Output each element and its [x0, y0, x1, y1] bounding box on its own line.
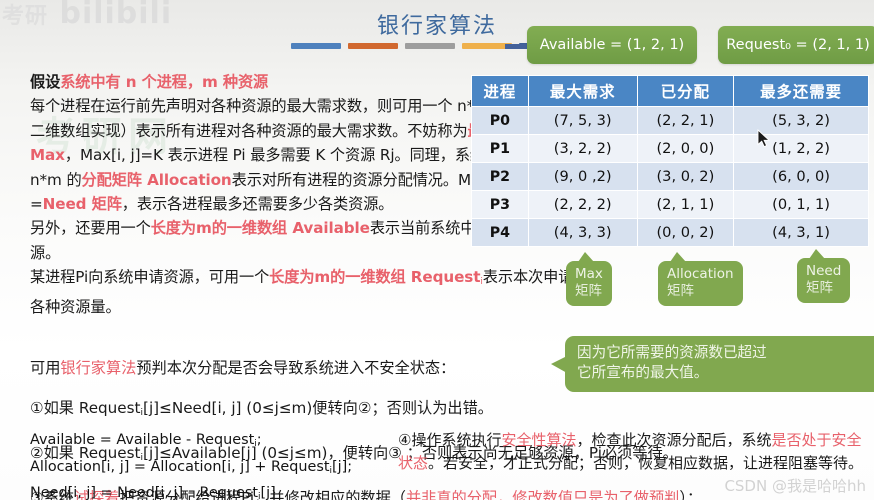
cell-allocation: (2, 1, 1): [637, 191, 734, 219]
rule-seg-2: [348, 43, 398, 49]
why-line-2: 它所宣布的最大值。: [577, 363, 874, 383]
why-line-1: 因为它所需要的资源数已超过: [577, 343, 874, 363]
need-label-cn: 矩阵: [806, 280, 841, 297]
cell-allocation: (2, 2, 1): [637, 107, 734, 135]
max-matrix-label: Max 矩阵: [566, 261, 612, 306]
available-callout: Available = (1, 2, 1): [527, 26, 697, 64]
need-label-name: Need: [806, 263, 841, 280]
cell-need: (6, 0, 0): [734, 163, 869, 191]
pseudocode-block: Available = Available - Requesti; Alloca…: [30, 429, 410, 500]
col-header-need: 最多还需要: [734, 76, 869, 107]
step-4: ④操作系统执行安全性算法，检查此次资源分配后，系统是否处于安全状态。若安全，才正…: [398, 429, 868, 474]
col-header-max: 最大需求: [528, 76, 637, 107]
cell-allocation: (0, 0, 2): [637, 219, 734, 247]
cell-max: (3, 2, 2): [528, 135, 637, 163]
allocation-matrix-label: Allocation 矩阵: [658, 261, 743, 306]
table-row: P2 (9, 0 ,2) (3, 0, 2) (6, 0, 0): [472, 163, 869, 191]
cell-need: (0, 1, 1): [734, 191, 869, 219]
cell-process: P1: [472, 135, 529, 163]
allocation-label-cn: 矩阵: [667, 283, 734, 300]
step-1: ①如果 Requesti[j]≤Need[i, j] (0≤j≤m)便转向②；否…: [30, 396, 730, 426]
table-row: P1 (3, 2, 2) (2, 0, 0) (1, 2, 2): [472, 135, 869, 163]
request-callout: Request₀ = (2, 1, 1): [718, 26, 874, 64]
why-callout: 因为它所需要的资源数已超过 它所宣布的最大值。: [565, 336, 874, 392]
table-row: P4 (4, 3, 3) (0, 0, 2) (4, 3, 1): [472, 219, 869, 247]
table-row: P3 (2, 2, 2) (2, 1, 1) (0, 1, 1): [472, 191, 869, 219]
max-label-name: Max: [575, 266, 603, 283]
rule-seg-3: [405, 43, 455, 49]
code-line-3: Need[i, j] = Need[i, j] – Requesti[j]: [30, 482, 410, 500]
slide-canvas: 考研 bilibili 考研网 银行家算法 Available = (1, 2,…: [0, 0, 874, 500]
cell-process: P3: [472, 191, 529, 219]
allocation-label-name: Allocation: [667, 266, 734, 283]
rule-seg-1: [291, 43, 341, 49]
cell-need: (1, 2, 2): [734, 135, 869, 163]
cell-need: (5, 3, 2): [734, 107, 869, 135]
cell-max: (7, 5, 3): [528, 107, 637, 135]
col-header-allocation: 已分配: [637, 76, 734, 107]
paragraph-4: 某进程Pi向系统申请资源，可用一个长度为m的一维数组 Requesti表示本次申…: [30, 265, 590, 319]
cell-allocation: (3, 0, 2): [637, 163, 734, 191]
code-line-2: Allocation[i, j] = Allocation[i, j] + Re…: [30, 456, 410, 483]
cell-need: (4, 3, 1): [734, 219, 869, 247]
cell-max: (4, 3, 3): [528, 219, 637, 247]
need-matrix-label: Need 矩阵: [797, 258, 850, 303]
csdn-watermark: CSDN @我是哈哈hh: [724, 475, 866, 496]
col-header-process: 进程: [472, 76, 529, 107]
cell-process: P4: [472, 219, 529, 247]
cell-process: P0: [472, 107, 529, 135]
cell-max: (2, 2, 2): [528, 191, 637, 219]
cell-max: (9, 0 ,2): [528, 163, 637, 191]
max-label-cn: 矩阵: [575, 283, 603, 300]
table-row: P0 (7, 5, 3) (2, 2, 1) (5, 3, 2): [472, 107, 869, 135]
code-line-1: Available = Available - Requesti;: [30, 429, 410, 456]
mouse-cursor-icon: [757, 129, 773, 151]
cell-allocation: (2, 0, 0): [637, 135, 734, 163]
banker-state-table: 进程 最大需求 已分配 最多还需要 P0 (7, 5, 3) (2, 2, 1)…: [471, 75, 869, 247]
cell-process: P2: [472, 163, 529, 191]
table-header-row: 进程 最大需求 已分配 最多还需要: [472, 76, 869, 107]
